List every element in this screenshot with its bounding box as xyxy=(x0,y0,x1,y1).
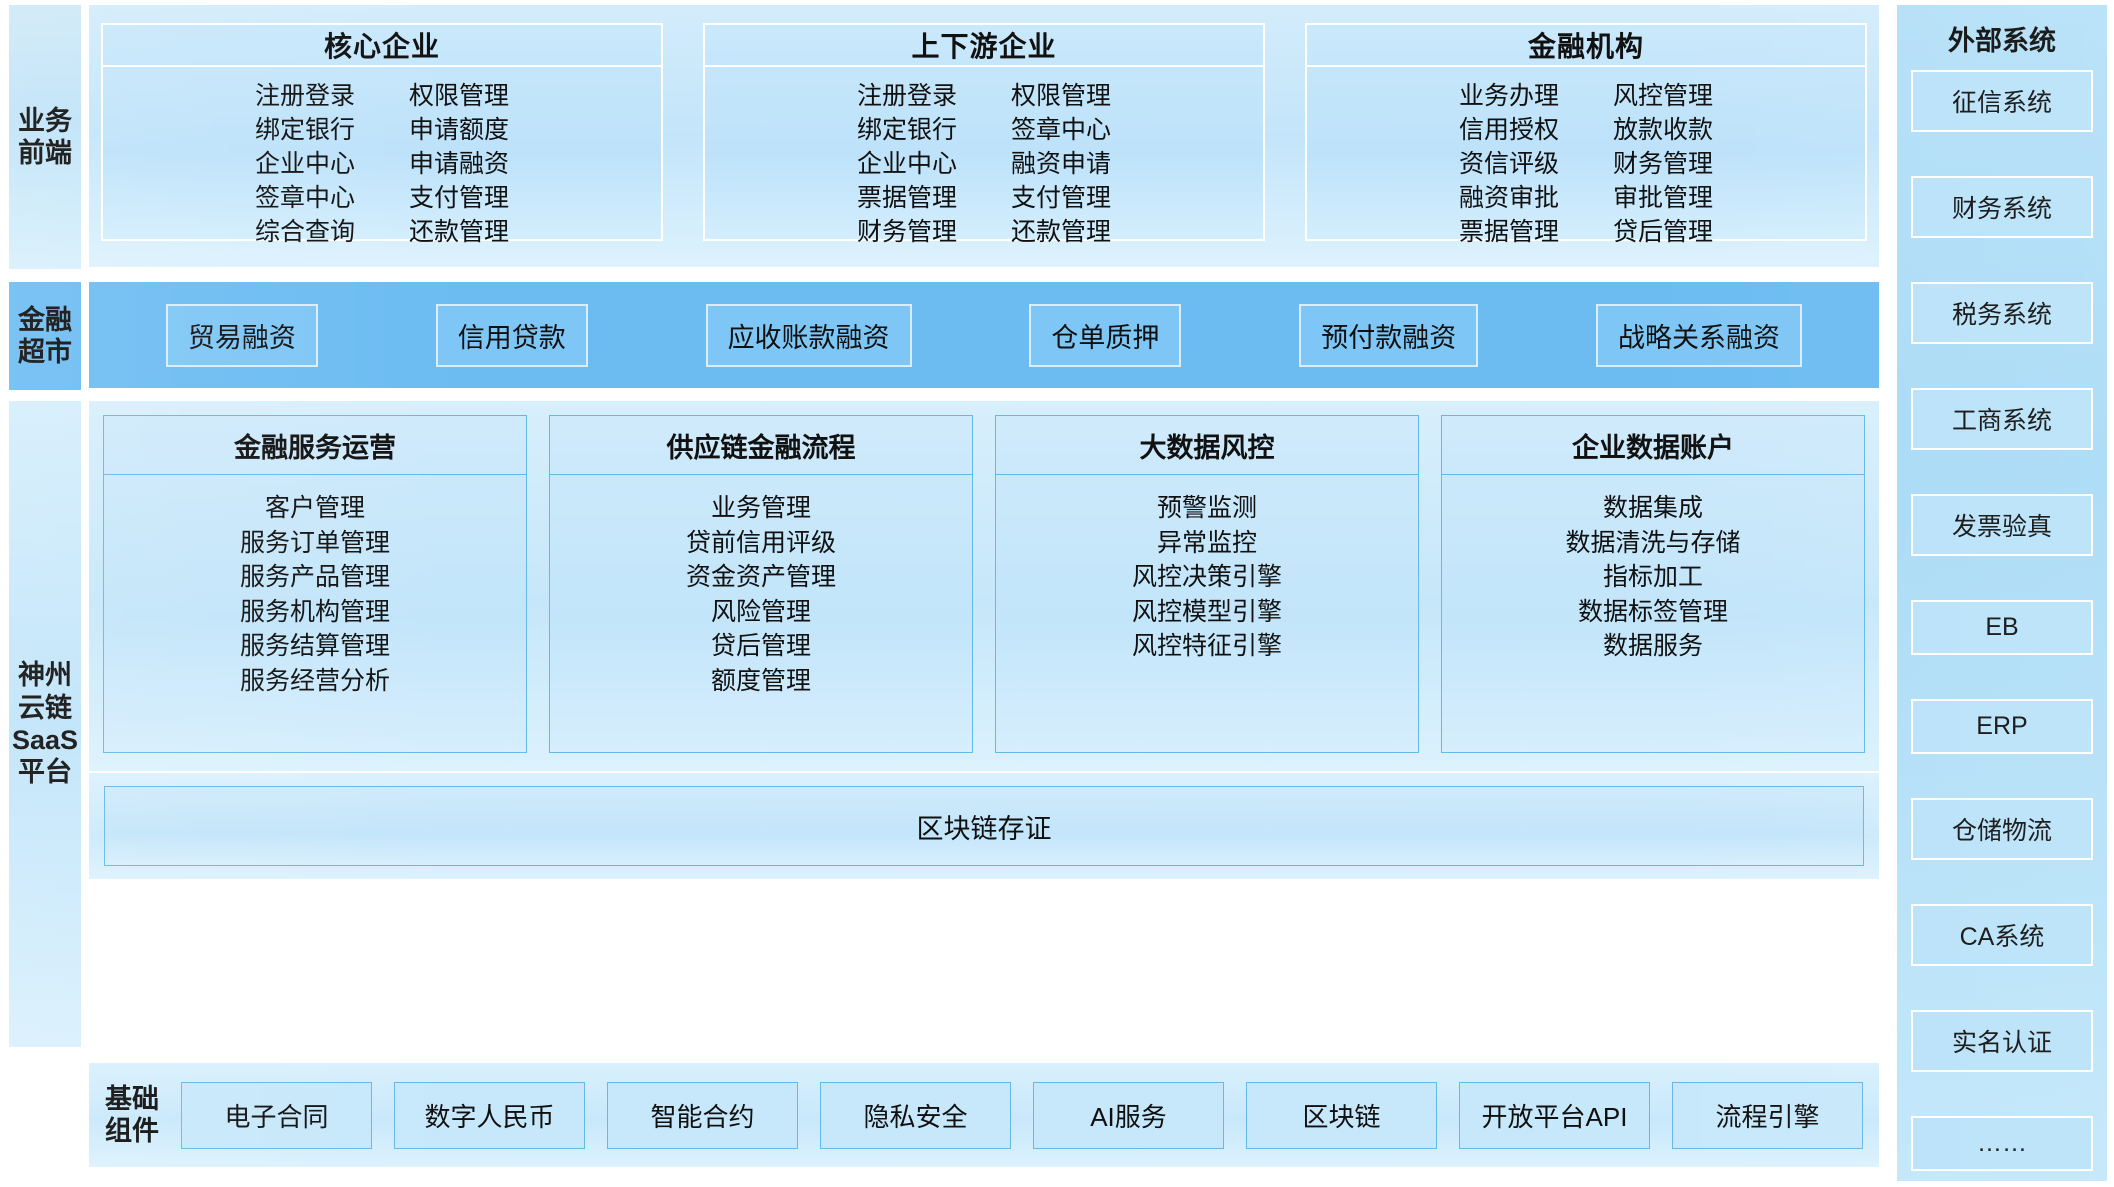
feature-item[interactable]: 贷后管理 xyxy=(1613,215,1713,249)
feature-item[interactable]: 票据管理 xyxy=(857,181,957,215)
external-systems-panel: 外部系统 征信系统 财务系统 税务系统 工商系统 发票验真 EB ERP 仓储物… xyxy=(1896,4,2108,1182)
external-systems-list: 征信系统 财务系统 税务系统 工商系统 发票验真 EB ERP 仓储物流 CA系… xyxy=(1911,70,2093,1171)
feature-item[interactable]: 风险管理 xyxy=(711,595,811,630)
feature-item[interactable]: 综合查询 xyxy=(255,215,355,249)
feature-item[interactable]: 数据清洗与存储 xyxy=(1565,526,1740,561)
feature-item[interactable]: 服务机构管理 xyxy=(240,595,390,630)
feature-item[interactable]: 注册登录 xyxy=(255,79,355,113)
feature-item[interactable]: 签章中心 xyxy=(255,181,355,215)
layer-label-saas-platform: 神州 云链 SaaS 平台 xyxy=(8,400,82,1048)
saas-card-supply-chain-finance-process[interactable]: 供应链金融流程 业务管理 贷前信用评级 资金资产管理 风险管理 贷后管理 额度管… xyxy=(549,415,973,753)
feature-item[interactable]: 服务产品管理 xyxy=(240,560,390,595)
component-digital-rmb[interactable]: 数字人民币 xyxy=(394,1082,585,1149)
feature-item[interactable]: 数据服务 xyxy=(1603,629,1703,664)
feature-item[interactable]: 绑定银行 xyxy=(857,113,957,147)
feature-item[interactable]: 风控决策引擎 xyxy=(1132,560,1282,595)
feature-item[interactable]: 信用授权 xyxy=(1459,113,1559,147)
saas-card-big-data-risk-control[interactable]: 大数据风控 预警监测 异常监控 风控决策引擎 风控模型引擎 风控特征引擎 xyxy=(995,415,1419,753)
card-body: 注册登录 绑定银行 企业中心 票据管理 财务管理 权限管理 签章中心 融资申请 … xyxy=(705,67,1263,249)
card-title: 金融服务运营 xyxy=(104,416,526,475)
layer-label-base-components: 基础 组件 xyxy=(105,1083,159,1148)
feature-item[interactable]: 数据集成 xyxy=(1603,491,1703,526)
feature-column-left: 注册登录 绑定银行 企业中心 签章中心 综合查询 xyxy=(255,79,355,249)
card-body: 业务管理 贷前信用评级 资金资产管理 风险管理 贷后管理 额度管理 xyxy=(550,475,972,752)
feature-column-right: 权限管理 申请额度 申请融资 支付管理 还款管理 xyxy=(409,79,509,249)
feature-item[interactable]: 贷前信用评级 xyxy=(686,526,836,561)
base-components-panel: 基础 组件 电子合同 数字人民币 智能合约 隐私安全 AI服务 区块链 开放平台… xyxy=(88,1062,1880,1168)
component-smart-contract[interactable]: 智能合约 xyxy=(607,1082,798,1149)
feature-item[interactable]: 权限管理 xyxy=(409,79,509,113)
card-title: 金融机构 xyxy=(1307,25,1865,67)
component-process-engine[interactable]: 流程引擎 xyxy=(1672,1082,1863,1149)
feature-column-left: 业务办理 信用授权 资信评级 融资审批 票据管理 xyxy=(1459,79,1559,249)
blockchain-evidence-band[interactable]: 区块链存证 xyxy=(104,786,1864,866)
feature-item[interactable]: 企业中心 xyxy=(857,147,957,181)
feature-item[interactable]: 权限管理 xyxy=(1011,79,1111,113)
component-open-platform-api[interactable]: 开放平台API xyxy=(1459,1082,1650,1149)
feature-item[interactable]: 指标加工 xyxy=(1603,560,1703,595)
card-body: 注册登录 绑定银行 企业中心 签章中心 综合查询 权限管理 申请额度 申请融资 … xyxy=(103,67,661,249)
feature-item[interactable]: 服务结算管理 xyxy=(240,629,390,664)
feature-item[interactable]: 风控特征引擎 xyxy=(1132,629,1282,664)
feature-item[interactable]: 还款管理 xyxy=(409,215,509,249)
feature-item[interactable]: 客户管理 xyxy=(265,491,365,526)
architecture-diagram: 业务 前端 核心企业 注册登录 绑定银行 企业中心 签章中心 综合查询 权限管理… xyxy=(0,0,2114,1187)
card-title: 核心企业 xyxy=(103,25,661,67)
business-card-upstream-downstream-enterprise[interactable]: 上下游企业 注册登录 绑定银行 企业中心 票据管理 财务管理 权限管理 签章中心… xyxy=(703,23,1265,241)
feature-item[interactable]: 放款收款 xyxy=(1613,113,1713,147)
external-system-credit-reporting[interactable]: 征信系统 xyxy=(1911,70,2093,132)
feature-item[interactable]: 服务订单管理 xyxy=(240,526,390,561)
card-title: 企业数据账户 xyxy=(1442,416,1864,475)
feature-item[interactable]: 资金资产管理 xyxy=(686,560,836,595)
feature-item[interactable]: 贷后管理 xyxy=(711,629,811,664)
external-systems-title: 外部系统 xyxy=(1948,19,2056,58)
feature-item[interactable]: 企业中心 xyxy=(255,147,355,181)
component-privacy-security[interactable]: 隐私安全 xyxy=(820,1082,1011,1149)
feature-item[interactable]: 预警监测 xyxy=(1157,491,1257,526)
card-body: 数据集成 数据清洗与存储 指标加工 数据标签管理 数据服务 xyxy=(1442,475,1864,752)
feature-item[interactable]: 融资申请 xyxy=(1011,147,1111,181)
business-card-financial-institution[interactable]: 金融机构 业务办理 信用授权 资信评级 融资审批 票据管理 风控管理 放款收款 … xyxy=(1305,23,1867,241)
external-system-finance[interactable]: 财务系统 xyxy=(1911,176,2093,238)
component-electronic-contract[interactable]: 电子合同 xyxy=(181,1082,372,1149)
feature-item[interactable]: 融资审批 xyxy=(1459,181,1559,215)
feature-item[interactable]: 财务管理 xyxy=(1613,147,1713,181)
layer-label-business-front: 业务 前端 xyxy=(8,4,82,270)
feature-item[interactable]: 风控模型引擎 xyxy=(1132,595,1282,630)
feature-item[interactable]: 支付管理 xyxy=(1011,181,1111,215)
market-item-strategic-relation-finance[interactable]: 战略关系融资 xyxy=(1596,304,1802,367)
business-front-panel: 核心企业 注册登录 绑定银行 企业中心 签章中心 综合查询 权限管理 申请额度 … xyxy=(88,4,1880,268)
feature-item[interactable]: 服务经营分析 xyxy=(240,664,390,699)
component-blockchain[interactable]: 区块链 xyxy=(1246,1082,1437,1149)
external-system-eb[interactable]: EB xyxy=(1911,600,2093,655)
feature-item[interactable]: 申请融资 xyxy=(409,147,509,181)
saas-card-financial-service-operation[interactable]: 金融服务运营 客户管理 服务订单管理 服务产品管理 服务机构管理 服务结算管理 … xyxy=(103,415,527,753)
feature-column-right: 风控管理 放款收款 财务管理 审批管理 贷后管理 xyxy=(1613,79,1713,249)
external-system-ca[interactable]: CA系统 xyxy=(1911,904,2093,966)
business-card-core-enterprise[interactable]: 核心企业 注册登录 绑定银行 企业中心 签章中心 综合查询 权限管理 申请额度 … xyxy=(101,23,663,241)
feature-item[interactable]: 业务办理 xyxy=(1459,79,1559,113)
market-item-prepayment-finance[interactable]: 预付款融资 xyxy=(1299,304,1478,367)
external-system-more[interactable]: …… xyxy=(1911,1116,2093,1171)
feature-item[interactable]: 数据标签管理 xyxy=(1578,595,1728,630)
card-body: 业务办理 信用授权 资信评级 融资审批 票据管理 风控管理 放款收款 财务管理 … xyxy=(1307,67,1865,249)
feature-item[interactable]: 申请额度 xyxy=(409,113,509,147)
layer-label-finance-market: 金融 超市 xyxy=(8,281,82,391)
saas-card-enterprise-data-account[interactable]: 企业数据账户 数据集成 数据清洗与存储 指标加工 数据标签管理 数据服务 xyxy=(1441,415,1865,753)
feature-item[interactable]: 风控管理 xyxy=(1613,79,1713,113)
external-system-tax[interactable]: 税务系统 xyxy=(1911,282,2093,344)
external-system-erp[interactable]: ERP xyxy=(1911,699,2093,754)
market-item-credit-loan[interactable]: 信用贷款 xyxy=(436,304,588,367)
card-title: 上下游企业 xyxy=(705,25,1263,67)
card-title: 供应链金融流程 xyxy=(550,416,972,475)
card-title: 大数据风控 xyxy=(996,416,1418,475)
feature-item[interactable]: 签章中心 xyxy=(1011,113,1111,147)
feature-item[interactable]: 还款管理 xyxy=(1011,215,1111,249)
external-system-warehouse-logistics[interactable]: 仓储物流 xyxy=(1911,798,2093,860)
feature-item[interactable]: 异常监控 xyxy=(1157,526,1257,561)
external-system-invoice-verification[interactable]: 发票验真 xyxy=(1911,494,2093,556)
feature-item[interactable]: 资信评级 xyxy=(1459,147,1559,181)
card-body: 预警监测 异常监控 风控决策引擎 风控模型引擎 风控特征引擎 xyxy=(996,475,1418,752)
saas-platform-panel: 金融服务运营 客户管理 服务订单管理 服务产品管理 服务机构管理 服务结算管理 … xyxy=(88,400,1880,772)
feature-item[interactable]: 票据管理 xyxy=(1459,215,1559,249)
finance-market-panel: 贸易融资 信用贷款 应收账款融资 仓单质押 预付款融资 战略关系融资 xyxy=(88,281,1880,389)
feature-item[interactable]: 业务管理 xyxy=(711,491,811,526)
external-system-business-registry[interactable]: 工商系统 xyxy=(1911,388,2093,450)
feature-column-right: 权限管理 签章中心 融资申请 支付管理 还款管理 xyxy=(1011,79,1111,249)
market-item-receivables-finance[interactable]: 应收账款融资 xyxy=(706,304,912,367)
feature-item[interactable]: 额度管理 xyxy=(711,664,811,699)
feature-item[interactable]: 审批管理 xyxy=(1613,181,1713,215)
feature-item[interactable]: 绑定银行 xyxy=(255,113,355,147)
market-item-trade-finance[interactable]: 贸易融资 xyxy=(166,304,318,367)
card-body: 客户管理 服务订单管理 服务产品管理 服务机构管理 服务结算管理 服务经营分析 xyxy=(104,475,526,752)
feature-item[interactable]: 注册登录 xyxy=(857,79,957,113)
feature-item[interactable]: 支付管理 xyxy=(409,181,509,215)
external-system-real-name-auth[interactable]: 实名认证 xyxy=(1911,1010,2093,1072)
feature-column-left: 注册登录 绑定银行 企业中心 票据管理 财务管理 xyxy=(857,79,957,249)
component-ai-service[interactable]: AI服务 xyxy=(1033,1082,1224,1149)
market-item-warehouse-receipt-pledge[interactable]: 仓单质押 xyxy=(1029,304,1181,367)
feature-item[interactable]: 财务管理 xyxy=(857,215,957,249)
